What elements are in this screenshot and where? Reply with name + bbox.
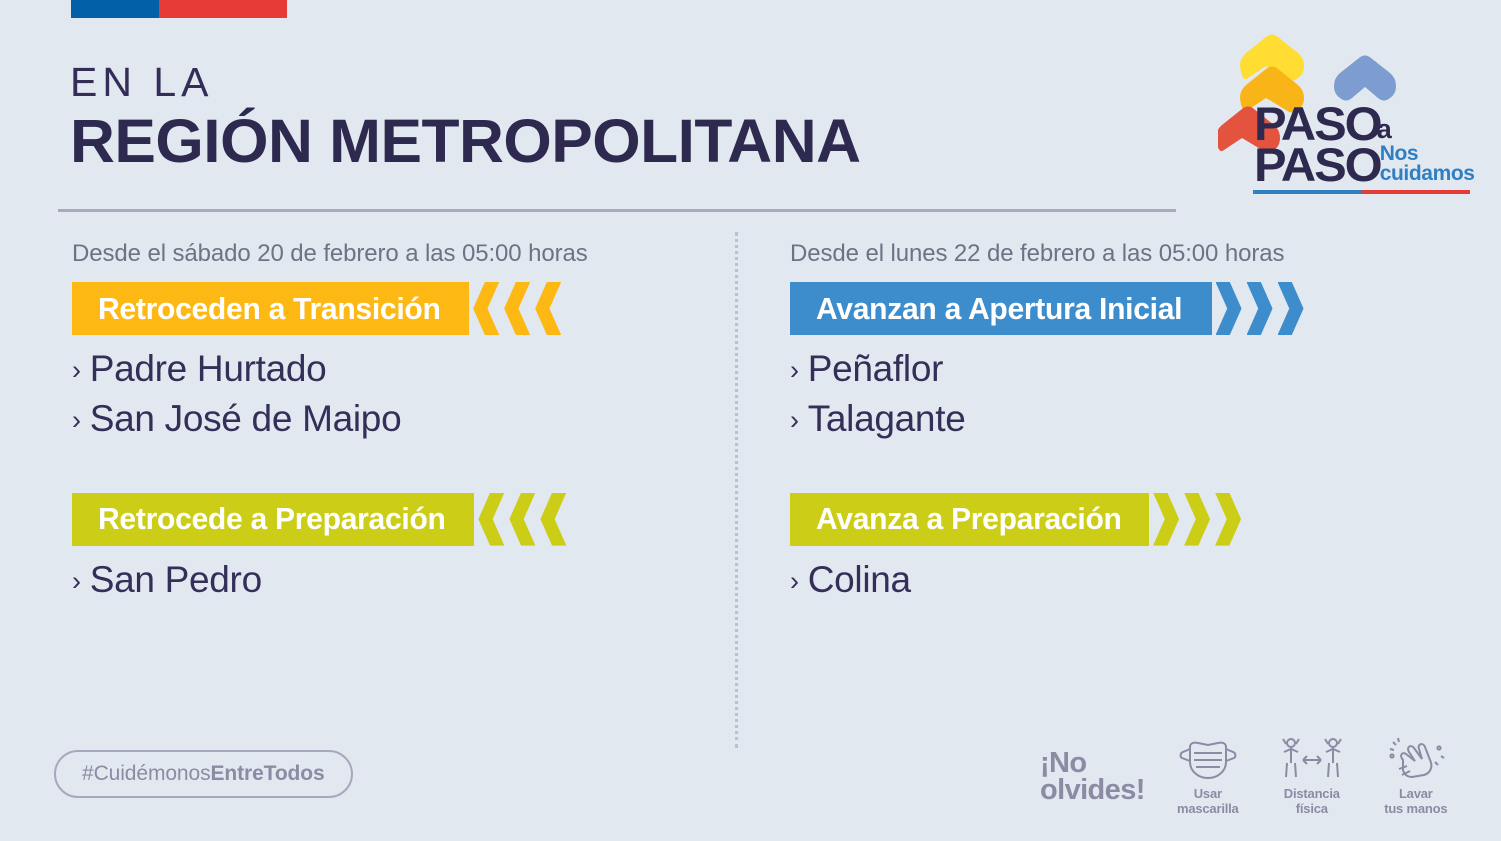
bullet-chevron-icon: › xyxy=(72,357,81,384)
group-retrocede-preparacion: Retrocede a Preparación › San Pedro xyxy=(72,493,702,605)
reminder-caption-line2: física xyxy=(1296,801,1328,816)
group-avanza-preparacion: Avanza a Preparación › Colina xyxy=(790,493,1440,605)
chevron-left-icon xyxy=(473,282,499,335)
reminder-caption-line2: tus manos xyxy=(1384,801,1447,816)
commune-list: › Colina xyxy=(790,555,1440,605)
logo-paso-bottom: PASO xyxy=(1254,145,1381,185)
chevron-blue-icon xyxy=(1334,56,1396,101)
chevron-right-icon xyxy=(1153,493,1179,546)
header-kicker: EN LA xyxy=(70,62,1030,103)
flag-blue-block xyxy=(71,0,159,18)
column-right: Desde el lunes 22 de febrero a las 05:00… xyxy=(790,240,1440,639)
commune-list: › Peñaflor › Talagante xyxy=(790,344,1440,445)
chevron-right-icon xyxy=(1247,282,1273,335)
logo-tagline-line2: cuidamos xyxy=(1380,162,1475,185)
chevron-right-icon xyxy=(1278,282,1304,335)
bullet-chevron-icon: › xyxy=(790,407,799,434)
chevron-right-icon xyxy=(1215,493,1241,546)
logo-underline-red xyxy=(1362,190,1471,194)
list-item: › Talagante xyxy=(790,394,1440,444)
column-left: Desde el sábado 20 de febrero a las 05:0… xyxy=(72,240,702,639)
header-divider-rule xyxy=(58,209,1176,212)
commune-name: San José de Maipo xyxy=(90,394,402,444)
chevron-right-icon xyxy=(1184,493,1210,546)
commune-list: › Padre Hurtado › San José de Maipo xyxy=(72,344,702,445)
reminder-caption-line2: mascarilla xyxy=(1177,801,1239,816)
list-item: › Padre Hurtado xyxy=(72,344,702,394)
hashtag-badge: #CuidémonosEntreTodos xyxy=(54,750,353,798)
page-title: REGIÓN METROPOLITANA xyxy=(70,110,1049,172)
hashtag-bold-part: EntreTodos xyxy=(210,762,324,786)
social-distance-icon xyxy=(1277,736,1347,782)
list-item: › Peñaflor xyxy=(790,344,1440,394)
banner-avanza-preparacion: Avanza a Preparación xyxy=(790,493,1440,546)
wash-hands-icon xyxy=(1385,736,1447,782)
chevron-left-icon xyxy=(540,493,566,546)
list-item: › San Pedro xyxy=(72,555,702,605)
logo-tagline: Nos cuidamos xyxy=(1380,144,1475,184)
column-left-effective-date: Desde el sábado 20 de febrero a las 05:0… xyxy=(72,240,702,268)
header-block: EN LA REGIÓN METROPOLITANA xyxy=(70,62,1030,172)
commune-name: Colina xyxy=(808,555,911,605)
banner-arrows-left xyxy=(478,493,571,546)
chevron-right-icon xyxy=(1216,282,1242,335)
reminder-distance: Distancia física xyxy=(1271,736,1353,817)
banner-label: Avanza a Preparación xyxy=(816,501,1122,537)
group-retroceden-transicion: Retroceden a Transición › Padre Hurtado … xyxy=(72,282,702,445)
commune-list: › San Pedro xyxy=(72,555,702,605)
reminder-caption-line1: Distancia xyxy=(1284,786,1340,801)
banner-label: Avanzan a Apertura Inicial xyxy=(816,291,1182,327)
banner-bar: Avanzan a Apertura Inicial xyxy=(790,282,1212,335)
logo-row-bottom: PASO Nos cuidamos xyxy=(1254,144,1475,185)
banner-bar: Avanza a Preparación xyxy=(790,493,1149,546)
list-item: › Colina xyxy=(790,555,1440,605)
flag-red-block xyxy=(159,0,287,18)
commune-name: Peñaflor xyxy=(808,344,943,394)
reminder-caption-line1: Lavar xyxy=(1399,786,1433,801)
banner-bar: Retrocede a Preparación xyxy=(72,493,474,546)
commune-name: Talagante xyxy=(808,394,966,444)
commune-name: San Pedro xyxy=(90,555,262,605)
chevron-left-icon xyxy=(509,493,535,546)
reminder-caption: Usar mascarilla xyxy=(1177,787,1239,817)
chevron-left-icon xyxy=(478,493,504,546)
reminder-caption-line1: Usar xyxy=(1194,786,1222,801)
hashtag-light-part: #Cuidémonos xyxy=(82,762,210,786)
reminder-mask: Usar mascarilla xyxy=(1167,736,1249,817)
reminder-wash-hands: Lavar tus manos xyxy=(1375,736,1457,817)
reminders-heading-line1: ¡No xyxy=(1040,750,1145,777)
banner-arrows-right xyxy=(1216,282,1309,335)
reminder-caption: Lavar tus manos xyxy=(1384,787,1447,817)
column-right-effective-date: Desde el lunes 22 de febrero a las 05:00… xyxy=(790,240,1440,268)
logo-underline xyxy=(1253,190,1470,194)
banner-arrows-left xyxy=(473,282,566,335)
bullet-chevron-icon: › xyxy=(72,407,81,434)
reminders-heading-line2: olvides! xyxy=(1040,777,1145,804)
list-item: › San José de Maipo xyxy=(72,394,702,444)
reminders-block: ¡No olvides! Usar mascarilla xyxy=(1040,736,1457,817)
column-dotted-divider xyxy=(735,232,738,748)
chevron-left-icon xyxy=(535,282,561,335)
paso-a-paso-logo: PASO a PASO Nos cuidamos xyxy=(1218,26,1484,198)
banner-retroceden-transicion: Retroceden a Transición xyxy=(72,282,702,335)
commune-name: Padre Hurtado xyxy=(90,344,327,394)
bullet-chevron-icon: › xyxy=(790,357,799,384)
logo-wordmark: PASO a PASO Nos cuidamos xyxy=(1254,104,1475,185)
bullet-chevron-icon: › xyxy=(72,568,81,595)
face-mask-icon xyxy=(1177,736,1239,782)
banner-avanzan-apertura-inicial: Avanzan a Apertura Inicial xyxy=(790,282,1440,335)
infographic-canvas: EN LA REGIÓN METROPOLITANA PASO a PASO N… xyxy=(0,0,1501,841)
logo-underline-blue xyxy=(1253,190,1362,194)
group-avanzan-apertura-inicial: Avanzan a Apertura Inicial › Peñaflor › … xyxy=(790,282,1440,445)
chevron-left-icon xyxy=(504,282,530,335)
banner-retrocede-preparacion: Retrocede a Preparación xyxy=(72,493,702,546)
banner-bar: Retroceden a Transición xyxy=(72,282,469,335)
reminder-caption: Distancia física xyxy=(1284,787,1340,817)
banner-label: Retroceden a Transición xyxy=(98,291,441,327)
banner-arrows-right xyxy=(1153,493,1246,546)
bullet-chevron-icon: › xyxy=(790,568,799,595)
banner-label: Retrocede a Preparación xyxy=(98,501,446,537)
chile-flag-bar xyxy=(71,0,287,18)
reminders-heading: ¡No olvides! xyxy=(1040,736,1145,803)
